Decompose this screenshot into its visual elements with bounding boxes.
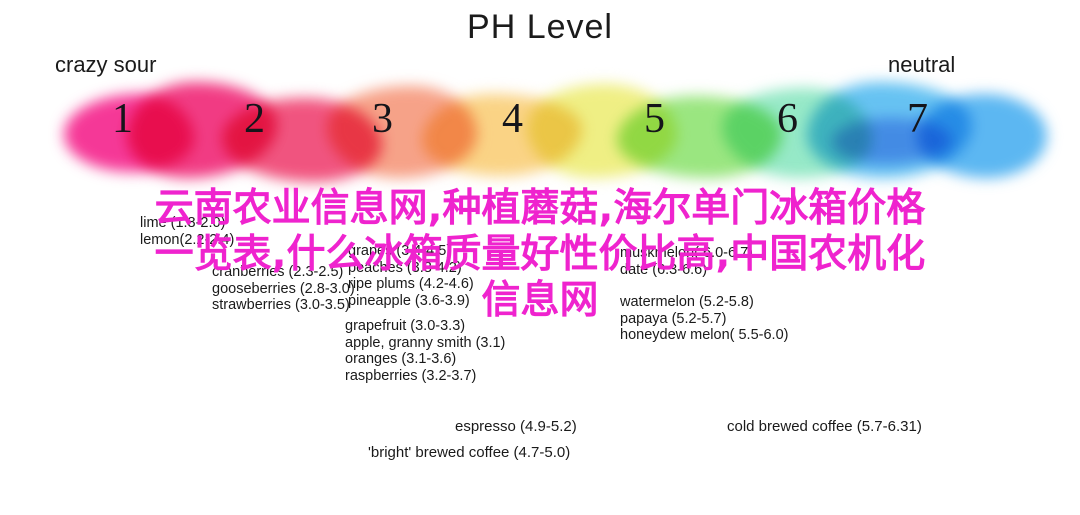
ph-scale-band: 1 2 3 4 5 6 7 [72,80,1012,185]
label-item: gooseberries (2.8-3.0) [212,281,355,298]
scale-number-2: 2 [244,98,265,140]
watercolor-gradient [72,80,1012,185]
label-item: grapefruit (3.0-3.3) [345,318,505,335]
label-item: raspberries (3.2-3.7) [345,368,505,385]
label-item: oranges (3.1-3.6) [345,351,505,368]
label-group-citrus: grapefruit (3.0-3.3) apple, granny smith… [345,318,505,384]
label-group-melons-high: muskmelon( 6.0-6.7) date (6.3-6.6) [620,245,753,278]
page-title: PH Level [0,8,1080,47]
label-espresso: espresso (4.9-5.2) [455,415,577,439]
label-item: muskmelon( 6.0-6.7) [620,245,753,262]
label-item: papaya (5.2-5.7) [620,311,788,328]
label-item: ripe plums (4.2-4.6) [348,276,474,293]
axis-high-label: neutral [888,52,955,78]
label-item: date (6.3-6.6) [620,262,753,279]
label-item: apple, granny smith (3.1) [345,335,505,352]
label-item: lime (1.8-2.0) [140,215,234,232]
label-item: grapes (3.4-4.5) [348,243,474,260]
scale-number-6: 6 [777,98,798,140]
label-item: strawberries (3.0-3.5) [212,297,355,314]
label-group-melons: watermelon (5.2-5.8) papaya (5.2-5.7) ho… [620,294,788,344]
label-group-stone-fruit: grapes (3.4-4.5) peaches (3.8-4.2) ripe … [348,243,474,309]
scale-number-7: 7 [907,98,928,140]
label-cold-brewed-coffee: cold brewed coffee (5.7-6.31) [727,415,922,439]
label-item: watermelon (5.2-5.8) [620,294,788,311]
label-item: peaches (3.8-4.2) [348,260,474,277]
ph-level-infographic: PH Level crazy sour neutral 1 2 3 4 5 6 … [0,0,1080,515]
axis-low-label: crazy sour [55,52,156,78]
watermark-line-3: 信息网 [0,278,1080,324]
watermark-overlay: 云南农业信息网,种植蘑菇,海尔单门冰箱价格 一览表,什么冰箱质量好性价比高,中国… [0,186,1080,324]
label-item: pineapple (3.6-3.9) [348,293,474,310]
label-item: lemon(2.2-2.4) [140,232,234,249]
scale-number-3: 3 [372,98,393,140]
scale-number-4: 4 [502,98,523,140]
label-bright-brewed-coffee: 'bright' brewed coffee (4.7-5.0) [368,441,570,465]
label-item: cranberries (2.3-2.5) [212,264,355,281]
scale-number-5: 5 [644,98,665,140]
label-group-very-acidic: lime (1.8-2.0) lemon(2.2-2.4) [140,215,234,248]
label-item: honeydew melon( 5.5-6.0) [620,327,788,344]
label-group-berries: cranberries (2.3-2.5) gooseberries (2.8-… [212,264,355,314]
scale-number-1: 1 [112,98,133,140]
